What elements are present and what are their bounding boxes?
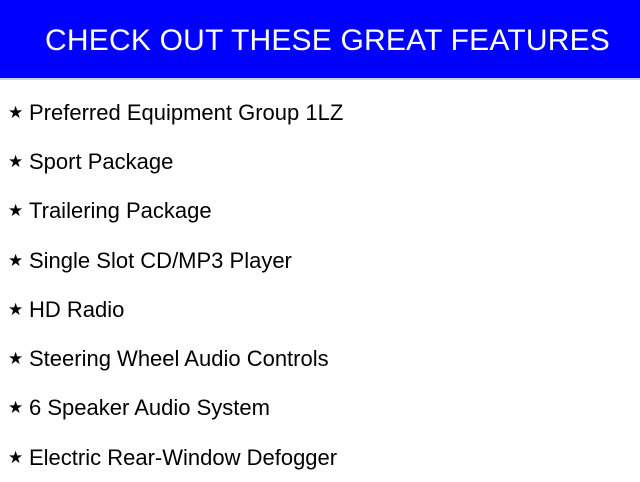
feature-sheet-page: CHECK OUT THESE GREAT FEATURES ★ Preferr… xyxy=(0,0,640,480)
star-icon: ★ xyxy=(8,299,29,321)
star-icon: ★ xyxy=(8,348,29,370)
header-divider xyxy=(0,78,640,80)
list-item: ★ 6 Speaker Audio System xyxy=(0,384,640,433)
star-icon: ★ xyxy=(8,151,29,173)
star-icon: ★ xyxy=(8,397,29,419)
feature-label: Single Slot CD/MP3 Player xyxy=(29,248,292,274)
list-item: ★ Preferred Equipment Group 1LZ xyxy=(0,88,640,137)
star-icon: ★ xyxy=(8,200,29,222)
list-item: ★ Electric Rear-Window Defogger xyxy=(0,433,640,482)
star-icon: ★ xyxy=(8,102,29,124)
features-list: ★ Preferred Equipment Group 1LZ ★ Sport … xyxy=(0,88,640,482)
feature-label: Preferred Equipment Group 1LZ xyxy=(29,100,343,126)
star-icon: ★ xyxy=(8,447,29,469)
star-icon: ★ xyxy=(8,250,29,272)
page-title: CHECK OUT THESE GREAT FEATURES xyxy=(45,24,610,58)
header-banner: CHECK OUT THESE GREAT FEATURES xyxy=(0,0,640,78)
list-item: ★ HD Radio xyxy=(0,285,640,334)
list-item: ★ Trailering Package xyxy=(0,187,640,236)
feature-label: Sport Package xyxy=(29,149,173,175)
list-item: ★ Steering Wheel Audio Controls xyxy=(0,334,640,383)
feature-label: HD Radio xyxy=(29,297,124,323)
list-item: ★ Sport Package xyxy=(0,137,640,186)
feature-label: 6 Speaker Audio System xyxy=(29,395,270,421)
list-item: ★ Single Slot CD/MP3 Player xyxy=(0,236,640,285)
feature-label: Electric Rear-Window Defogger xyxy=(29,445,337,471)
feature-label: Trailering Package xyxy=(29,198,212,224)
feature-label: Steering Wheel Audio Controls xyxy=(29,346,329,372)
